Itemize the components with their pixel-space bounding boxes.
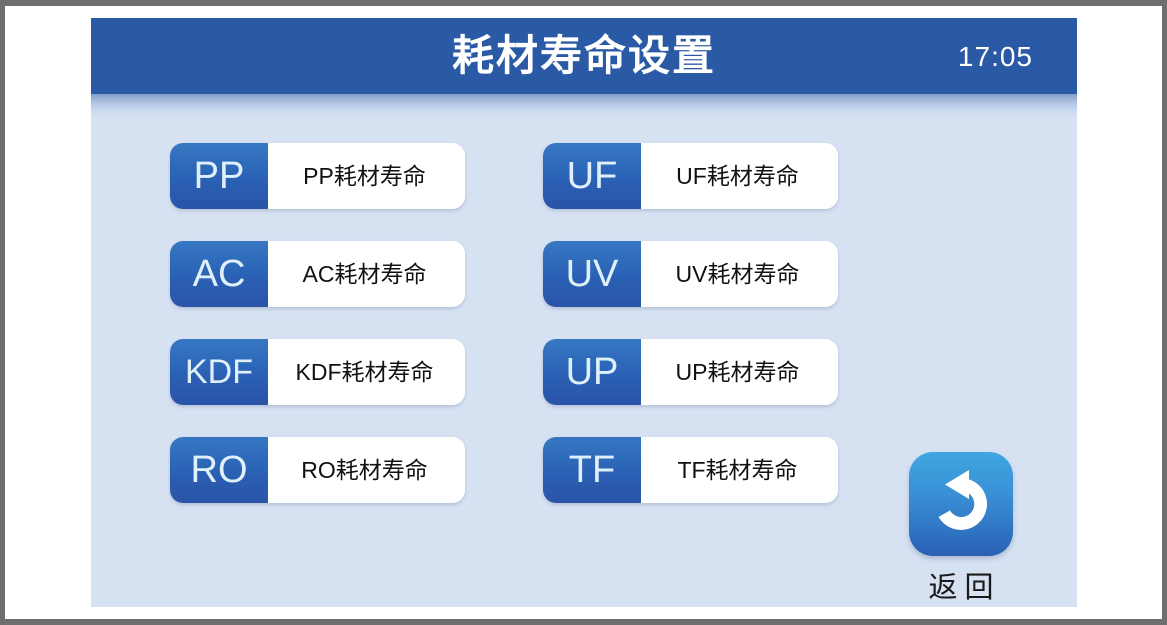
consumable-tile-tf[interactable]: TFTF耗材寿命 <box>543 437 838 503</box>
return-button-label: 返回 <box>881 564 1041 606</box>
consumable-tile-kdf[interactable]: KDFKDF耗材寿命 <box>170 339 465 405</box>
page-title: 耗材寿命设置 <box>91 18 1077 94</box>
tile-tag-label: UV <box>543 241 641 307</box>
tile-description-label: RO耗材寿命 <box>268 437 465 503</box>
device-screen: 耗材寿命设置 17:05 PPPP耗材寿命ACAC耗材寿命KDFKDF耗材寿命R… <box>0 0 1167 625</box>
tile-tag-label: PP <box>170 143 268 209</box>
tile-tag-label: TF <box>543 437 641 503</box>
tile-description-label: AC耗材寿命 <box>268 241 465 307</box>
consumable-tile-uf[interactable]: UFUF耗材寿命 <box>543 143 838 209</box>
consumable-tile-uv[interactable]: UVUV耗材寿命 <box>543 241 838 307</box>
tile-description-label: KDF耗材寿命 <box>268 339 465 405</box>
consumable-tile-ac[interactable]: ACAC耗材寿命 <box>170 241 465 307</box>
undo-arrow-icon <box>909 452 1013 556</box>
consumable-tile-up[interactable]: UPUP耗材寿命 <box>543 339 838 405</box>
tile-description-label: UP耗材寿命 <box>641 339 838 405</box>
header-gradient-divider <box>91 94 1077 116</box>
tile-tag-label: UF <box>543 143 641 209</box>
tile-description-label: UV耗材寿命 <box>641 241 838 307</box>
clock-display: 17:05 <box>958 18 1033 94</box>
tile-description-label: TF耗材寿命 <box>641 437 838 503</box>
tile-description-label: PP耗材寿命 <box>268 143 465 209</box>
consumable-tile-ro[interactable]: RORO耗材寿命 <box>170 437 465 503</box>
consumable-tile-pp[interactable]: PPPP耗材寿命 <box>170 143 465 209</box>
title-bar: 耗材寿命设置 17:05 <box>91 18 1077 94</box>
tile-tag-label: KDF <box>170 339 268 405</box>
tile-tag-label: RO <box>170 437 268 503</box>
app-panel: 耗材寿命设置 17:05 PPPP耗材寿命ACAC耗材寿命KDFKDF耗材寿命R… <box>91 18 1077 607</box>
tile-description-label: UF耗材寿命 <box>641 143 838 209</box>
return-button[interactable] <box>909 452 1013 556</box>
tile-tag-label: UP <box>543 339 641 405</box>
tile-tag-label: AC <box>170 241 268 307</box>
